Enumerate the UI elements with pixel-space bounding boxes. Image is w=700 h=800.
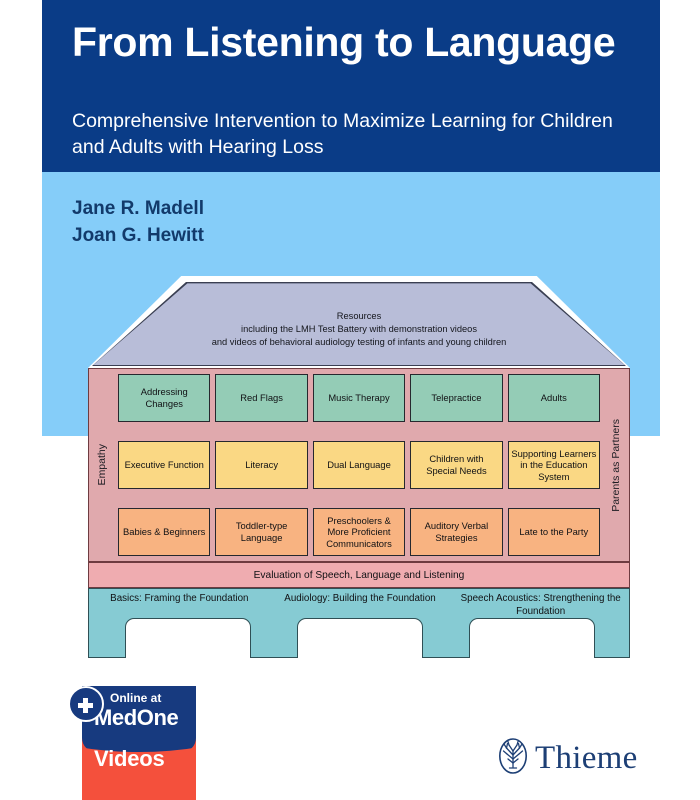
topic-cell[interactable]: Babies & Beginners <box>118 508 210 556</box>
topic-grid: Addressing Changes Red Flags Music Thera… <box>115 369 603 561</box>
topic-cell[interactable]: Music Therapy <box>313 374 405 422</box>
left-side-column: Empathy <box>89 369 115 561</box>
page-title: From Listening to Language <box>72 20 642 66</box>
topic-row: Addressing Changes Red Flags Music Thera… <box>118 374 600 422</box>
topic-cell[interactable]: Toddler-type Language <box>215 508 307 556</box>
topic-cell[interactable]: Red Flags <box>215 374 307 422</box>
topic-row: Babies & Beginners Toddler-type Language… <box>118 508 600 556</box>
foundation-label: Basics: Framing the Foundation <box>89 593 270 618</box>
medone-badge[interactable]: Online at MedOne Videos <box>68 686 196 800</box>
foundation-leg-gap <box>469 618 595 658</box>
topic-cell[interactable]: Late to the Party <box>508 508 600 556</box>
house-diagram: Resources including the LMH Test Battery… <box>88 276 630 658</box>
roof-line-3: and videos of behavioral audiology testi… <box>88 336 630 349</box>
medone-online-label: Online at <box>110 691 161 705</box>
topic-row: Executive Function Literacy Dual Languag… <box>118 441 600 489</box>
topic-cell[interactable]: Dual Language <box>313 441 405 489</box>
right-side-column-label: Parents as Partners <box>610 419 622 512</box>
roof-line-2: including the LMH Test Battery with demo… <box>88 323 630 336</box>
foundation-label: Audiology: Building the Foundation <box>270 593 451 618</box>
foundation-label: Speech Acoustics: Strengthening the Foun… <box>450 593 631 618</box>
topic-cell[interactable]: Addressing Changes <box>118 374 210 422</box>
subtitle: Comprehensive Intervention to Maximize L… <box>72 108 632 161</box>
left-side-column-label: Empathy <box>96 444 108 485</box>
roof-line-1: Resources <box>88 310 630 323</box>
book-cover: From Listening to Language Comprehensive… <box>0 0 700 800</box>
topic-cell[interactable]: Children with Special Needs <box>410 441 502 489</box>
evaluation-bar: Evaluation of Speech, Language and Liste… <box>88 562 630 588</box>
foundation-leg-gap <box>297 618 423 658</box>
authors: Jane R. Madell Joan G. Hewitt <box>72 196 472 250</box>
publisher-logo: Thieme <box>498 736 648 780</box>
plus-icon <box>68 686 104 722</box>
foundation: Basics: Framing the Foundation Audiology… <box>88 588 630 658</box>
roof-text: Resources including the LMH Test Battery… <box>88 310 630 350</box>
right-side-column: Parents as Partners <box>603 369 629 561</box>
topic-cell[interactable]: Telepractice <box>410 374 502 422</box>
author-name: Jane R. Madell <box>72 196 472 223</box>
foundation-leg-gap <box>125 618 251 658</box>
topic-cell[interactable]: Preschoolers & More Proficient Communica… <box>313 508 405 556</box>
thieme-tree-icon <box>498 737 528 780</box>
topic-cell[interactable]: Literacy <box>215 441 307 489</box>
house-body: Empathy Parents as Partners Addressing C… <box>88 368 630 562</box>
topic-cell[interactable]: Supporting Learners in the Education Sys… <box>508 441 600 489</box>
publisher-name: Thieme <box>535 740 638 777</box>
author-name: Joan G. Hewitt <box>72 223 472 250</box>
medone-videos-label: Videos <box>94 746 165 772</box>
medone-brand-label: MedOne <box>94 705 178 731</box>
foundation-labels: Basics: Framing the Foundation Audiology… <box>89 593 631 618</box>
topic-cell[interactable]: Executive Function <box>118 441 210 489</box>
topic-cell[interactable]: Adults <box>508 374 600 422</box>
topic-cell[interactable]: Auditory Verbal Strategies <box>410 508 502 556</box>
